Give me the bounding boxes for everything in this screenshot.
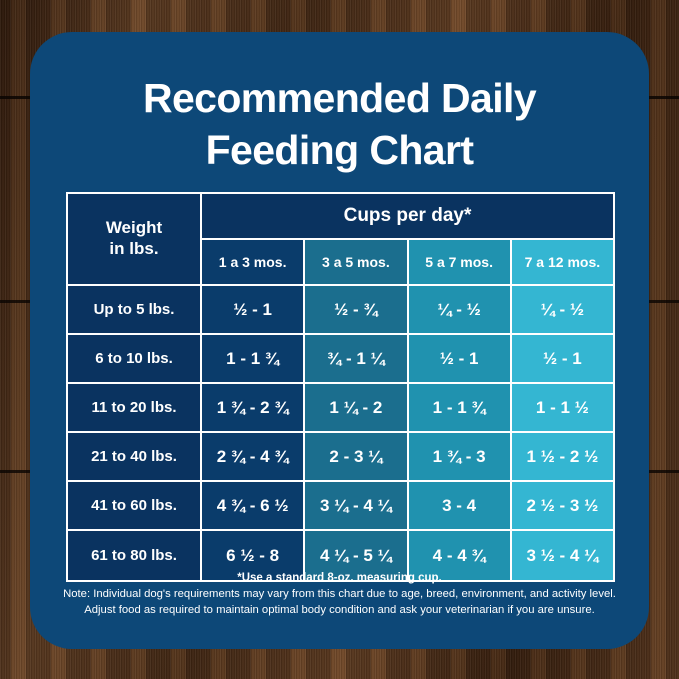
table-cell: 1 - 1 ¾ — [409, 384, 512, 433]
table-cell: ¾ - 1 ¼ — [305, 335, 408, 384]
table-cell: ¼ - ½ — [512, 286, 613, 335]
age-column-header-4: 7 a 12 mos. — [512, 240, 613, 286]
table-cell: 3 - 4 — [409, 482, 512, 531]
cups-header-group: Cups per day* 1 a 3 mos. 3 a 5 mos. 5 a … — [202, 194, 613, 286]
row-weight-label: 41 to 60 lbs. — [68, 482, 202, 531]
page-title-line-1: Recommended Daily — [30, 72, 649, 124]
row-weight-label: 11 to 20 lbs. — [68, 384, 202, 433]
table-cell: 1 - 1 ¾ — [202, 335, 305, 384]
table-cell: 1 - 1 ½ — [512, 384, 613, 433]
weight-column-header: Weight in lbs. — [68, 194, 202, 286]
table-row: 6 to 10 lbs. 1 - 1 ¾ ¾ - 1 ¼ ½ - 1 ½ - 1 — [68, 335, 613, 384]
table-row: Up to 5 lbs. ½ - 1 ½ - ¾ ¼ - ½ ¼ - ½ — [68, 286, 613, 335]
disclaimer-line-2: Adjust food as required to maintain opti… — [44, 602, 635, 618]
table-cell: 3 ¼ - 4 ¼ — [305, 482, 408, 531]
table-header-row: Weight in lbs. Cups per day* 1 a 3 mos. … — [68, 194, 613, 286]
page-title-line-2: Feeding Chart — [30, 124, 649, 176]
table-cell: ½ - ¾ — [305, 286, 408, 335]
row-weight-label: Up to 5 lbs. — [68, 286, 202, 335]
table-cell: ¼ - ½ — [409, 286, 512, 335]
table-cell: ½ - 1 — [202, 286, 305, 335]
table-cell: 1 ¾ - 2 ¾ — [202, 384, 305, 433]
cups-per-day-header: Cups per day* — [202, 194, 613, 240]
age-columns-header-row: 1 a 3 mos. 3 a 5 mos. 5 a 7 mos. 7 a 12 … — [202, 240, 613, 286]
table-row: 41 to 60 lbs. 4 ¾ - 6 ½ 3 ¼ - 4 ¼ 3 - 4 … — [68, 482, 613, 531]
table-cell: 2 ½ - 3 ½ — [512, 482, 613, 531]
row-weight-label: 21 to 40 lbs. — [68, 433, 202, 482]
measuring-cup-note: *Use a standard 8-oz. measuring cup. — [44, 572, 635, 584]
table-cell: ½ - 1 — [512, 335, 613, 384]
table-cell: 4 ¾ - 6 ½ — [202, 482, 305, 531]
feeding-chart-table: Weight in lbs. Cups per day* 1 a 3 mos. … — [66, 192, 615, 582]
table-cell: ½ - 1 — [409, 335, 512, 384]
row-weight-label: 6 to 10 lbs. — [68, 335, 202, 384]
table-cell: 2 ¾ - 4 ¾ — [202, 433, 305, 482]
age-column-header-1: 1 a 3 mos. — [202, 240, 305, 286]
table-cell: 1 ¼ - 2 — [305, 384, 408, 433]
disclaimer-line-1: Note: Individual dog's requirements may … — [44, 586, 635, 602]
weight-header-line-1: Weight — [106, 218, 162, 239]
wood-background: Recommended Daily Feeding Chart Weight i… — [0, 0, 679, 679]
table-cell: 1 ¾ - 3 — [409, 433, 512, 482]
table-cell: 2 - 3 ¼ — [305, 433, 408, 482]
table-row: 11 to 20 lbs. 1 ¾ - 2 ¾ 1 ¼ - 2 1 - 1 ¾ … — [68, 384, 613, 433]
footer-notes: *Use a standard 8-oz. measuring cup. Not… — [44, 572, 635, 619]
table-row: 21 to 40 lbs. 2 ¾ - 4 ¾ 2 - 3 ¼ 1 ¾ - 3 … — [68, 433, 613, 482]
page-title: Recommended Daily Feeding Chart — [30, 72, 649, 177]
feeding-chart-card: Recommended Daily Feeding Chart Weight i… — [30, 32, 649, 649]
weight-header-line-2: in lbs. — [106, 239, 162, 260]
table-cell: 1 ½ - 2 ½ — [512, 433, 613, 482]
age-column-header-2: 3 a 5 mos. — [305, 240, 408, 286]
age-column-header-3: 5 a 7 mos. — [409, 240, 512, 286]
